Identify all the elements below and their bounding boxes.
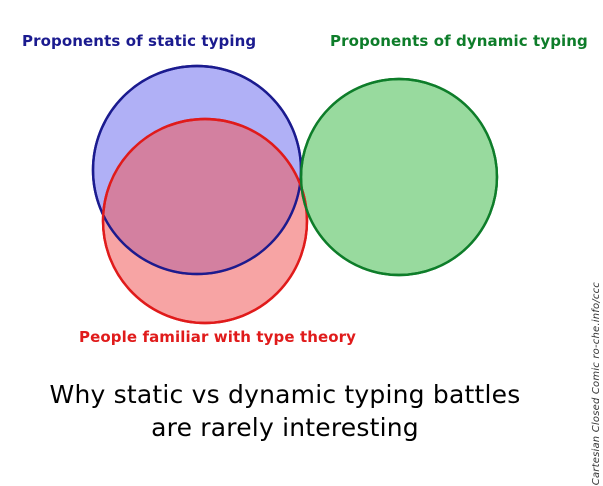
- comic-attribution: Cartesian Closed Comic ro-che.info/ccc: [591, 282, 602, 485]
- set-label-static: Proponents of static typing: [22, 34, 256, 49]
- caption-line-2: are rarely interesting: [0, 411, 570, 444]
- set-label-type-theory: People familiar with type theory: [79, 330, 356, 345]
- set-label-dynamic: Proponents of dynamic typing: [330, 34, 588, 49]
- caption-line-1: Why static vs dynamic typing battles: [0, 378, 570, 411]
- comic-caption: Why static vs dynamic typing battles are…: [0, 378, 570, 444]
- comic-panel: Proponents of static typing Proponents o…: [0, 0, 603, 486]
